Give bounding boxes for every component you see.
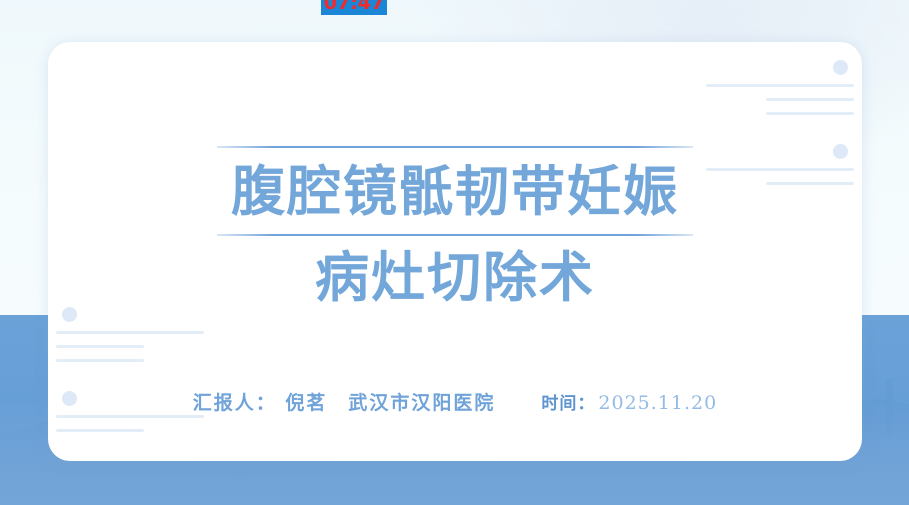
presentation-slide: 腹腔镜骶韧带妊娠 病灶切除术 汇报人： 倪茗 武汉市汉阳医院 时间： 2025.… (0, 0, 909, 505)
slide-title-block: 腹腔镜骶韧带妊娠 病灶切除术 (48, 146, 862, 306)
decoration-line (56, 345, 144, 348)
presenter-label: 汇报人： 倪茗 武汉市汉阳医院 (193, 388, 496, 415)
decoration-line (56, 429, 144, 432)
slide-title-line-2: 病灶切除术 (48, 236, 862, 306)
date-block: 时间： 2025.11.20 (541, 389, 717, 414)
decoration-line (56, 359, 144, 362)
title-card: 腹腔镜骶韧带妊娠 病灶切除术 汇报人： 倪茗 武汉市汉阳医院 时间： 2025.… (48, 42, 862, 461)
timer-overlay-badge[interactable]: 07:47 (321, 0, 387, 15)
slide-title-line-1: 腹腔镜骶韧带妊娠 (48, 148, 862, 234)
decoration-line (56, 415, 204, 418)
decoration-line (766, 112, 854, 115)
decoration-dot (62, 307, 77, 322)
slide-footer: 汇报人： 倪茗 武汉市汉阳医院 时间： 2025.11.20 (48, 388, 862, 415)
date-label: 时间： (541, 389, 595, 414)
decoration-line (766, 98, 854, 101)
decoration-bottom-left (48, 299, 218, 449)
decoration-line (706, 84, 854, 87)
decoration-dot (833, 60, 848, 75)
timer-value: 07:47 (324, 0, 384, 13)
decoration-line (56, 331, 204, 334)
date-value: 2025.11.20 (598, 392, 717, 414)
